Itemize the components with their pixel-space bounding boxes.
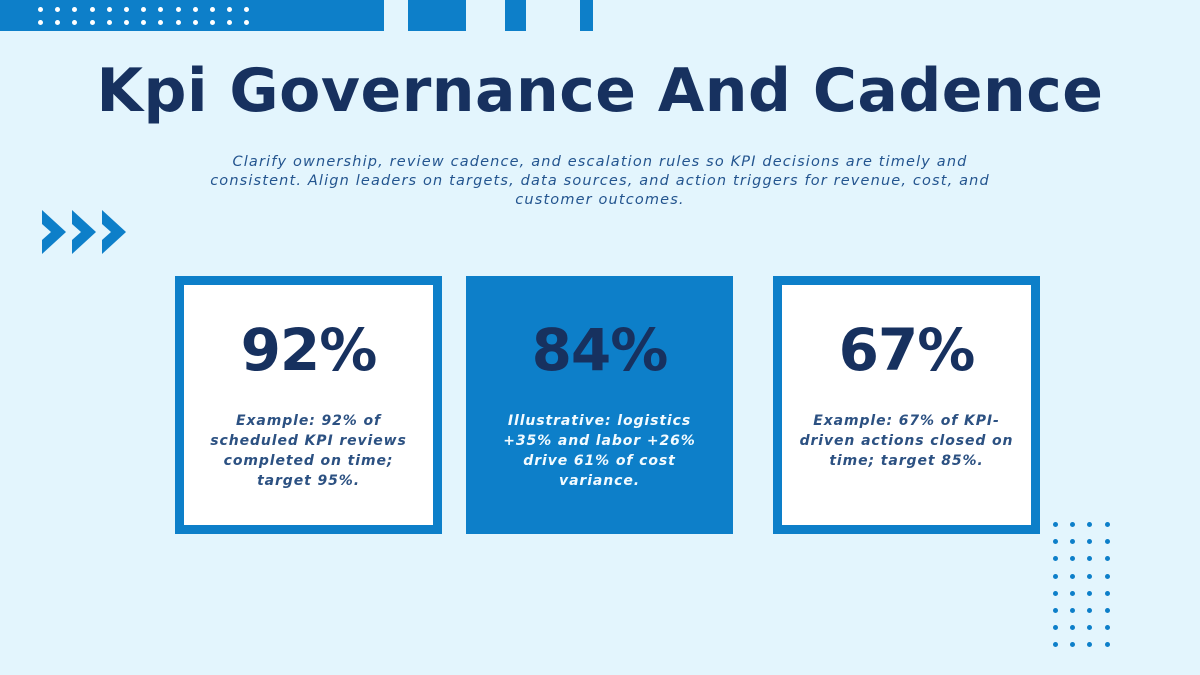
decor-dot [1070,556,1075,561]
decor-dot [38,20,43,25]
decor-dot [55,7,60,12]
decor-dot [1105,608,1110,613]
decor-dot [1087,556,1092,561]
stat-value: 84% [532,321,668,379]
page-title: Kpi Governance And Cadence [0,57,1200,126]
decor-dot [1070,539,1075,544]
decor-dot [176,20,181,25]
decor-dot [1053,625,1058,630]
top-decor-block-3 [505,0,526,31]
decor-dot [1070,574,1075,579]
page-subtitle: Clarify ownership, review cadence, and e… [205,153,995,210]
stat-value: 67% [839,321,975,379]
decor-dot [244,7,249,12]
decor-dot [1053,539,1058,544]
decor-dot [1105,539,1110,544]
chevron-right-icon [70,208,104,256]
decor-dot [210,7,215,12]
decor-dot [90,20,95,25]
slide-canvas: Kpi Governance And Cadence Clarify owner… [0,0,1200,675]
top-decor-block-2 [408,0,466,31]
decor-dot [1070,591,1075,596]
chevron-right-icon [40,208,74,256]
decor-dot [227,7,232,12]
decor-dot [1070,625,1075,630]
decor-dot [1053,591,1058,596]
decor-dot [1053,574,1058,579]
decor-dot [1053,522,1058,527]
stat-value: 92% [241,321,377,379]
stat-card[interactable]: 67% Example: 67% of KPI-driven actions c… [773,276,1040,534]
decor-dot [72,20,77,25]
decor-dot [1105,625,1110,630]
stat-description: Example: 67% of KPI-driven actions close… [782,411,1031,471]
decor-dot [90,7,95,12]
decor-dot [141,20,146,25]
decor-dot [1087,625,1092,630]
decor-dot [1087,574,1092,579]
decor-dot [55,20,60,25]
decor-dot [1087,522,1092,527]
decor-dot [193,7,198,12]
stat-card[interactable]: 92% Example: 92% of scheduled KPI review… [175,276,442,534]
decor-dot [210,20,215,25]
decor-dot [1105,642,1110,647]
corner-dot-pattern [1053,522,1113,647]
decor-dot [176,7,181,12]
chevron-right-icon [100,208,134,256]
decor-dot [124,20,129,25]
decor-dot [38,7,43,12]
decor-dot [1070,522,1075,527]
stat-description: Example: 92% of scheduled KPI reviews co… [184,411,433,491]
decor-dot [158,20,163,25]
decor-dot [1070,608,1075,613]
decor-dot [244,20,249,25]
top-bar-dot-pattern [38,7,253,25]
decor-dot [1053,642,1058,647]
decor-dot [141,7,146,12]
decor-dot [1087,642,1092,647]
decor-dot [124,7,129,12]
stat-card[interactable]: 84% Illustrative: logistics +35% and lab… [466,276,733,534]
decor-dot [227,20,232,25]
decor-dot [1087,539,1092,544]
decor-dot [72,7,77,12]
stat-description: Illustrative: logistics +35% and labor +… [475,411,724,491]
top-decor-block-4 [580,0,593,31]
decor-dot [107,7,112,12]
decor-dot [158,7,163,12]
chevron-group [40,208,142,256]
decor-dot [1105,591,1110,596]
decor-dot [1105,522,1110,527]
decor-dot [1053,556,1058,561]
decor-dot [1087,608,1092,613]
decor-dot [1070,642,1075,647]
decor-dot [1053,608,1058,613]
decor-dot [1105,574,1110,579]
decor-dot [1087,591,1092,596]
decor-dot [107,20,112,25]
decor-dot [1105,556,1110,561]
stat-card-group: 92% Example: 92% of scheduled KPI review… [0,276,1200,534]
decor-dot [193,20,198,25]
